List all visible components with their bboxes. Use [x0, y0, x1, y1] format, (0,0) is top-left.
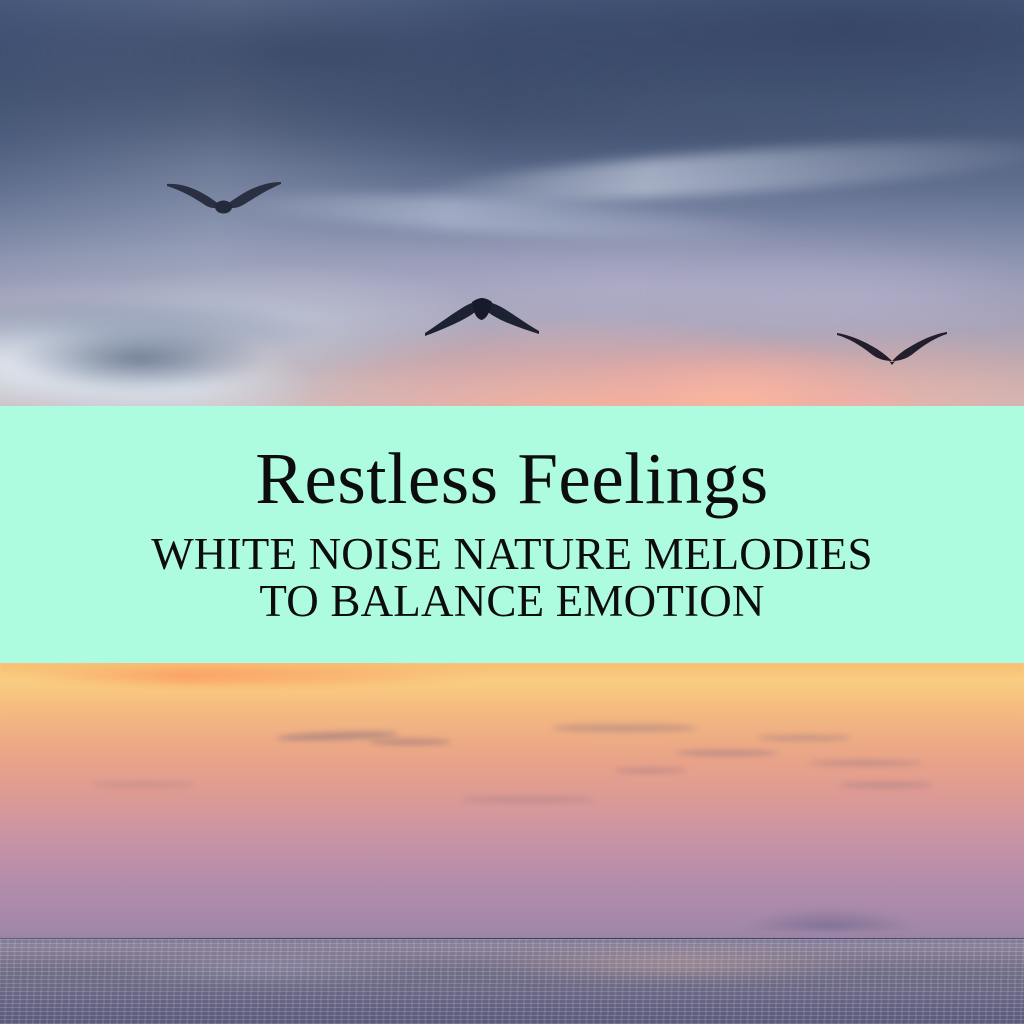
cloud-wisp [369, 739, 451, 745]
dark-cloud-mass [0, 0, 1024, 163]
sea-glint [410, 945, 942, 996]
album-cover: Restless Feelings WHITE NOISE NATURE MEL… [0, 0, 1024, 1024]
low-left-dark-cloud [0, 326, 348, 408]
seagull-top-center-icon [424, 293, 540, 341]
top-sky-photo [0, 0, 1024, 408]
sea-glint [51, 952, 481, 995]
seagull-top-left-icon [165, 178, 283, 224]
cloud-wisp [809, 760, 922, 766]
cloud-wisp [676, 750, 778, 756]
title-banner: Restless Feelings WHITE NOISE NATURE MEL… [0, 406, 1024, 665]
distant-headland [717, 901, 942, 930]
cloud-wisp [461, 797, 594, 803]
bottom-sunset-photo [0, 663, 1024, 1024]
cloud-wisp [614, 768, 686, 773]
cloud-wisp [553, 724, 696, 731]
album-subtitle: WHITE NOISE NATURE MELODIES TO BALANCE E… [151, 531, 873, 625]
seagull-top-right-icon [836, 330, 948, 370]
album-title: Restless Feelings [255, 442, 768, 515]
cloud-wisp [92, 782, 194, 787]
sunset-streak [20, 667, 491, 685]
cloud-wisp [758, 735, 850, 740]
cloud-wisp [840, 782, 932, 787]
